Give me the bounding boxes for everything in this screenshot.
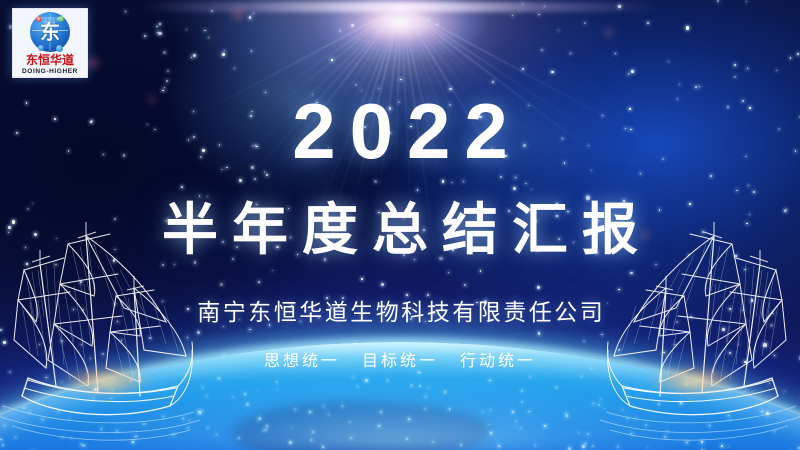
star <box>254 178 256 180</box>
star <box>258 281 260 283</box>
star <box>326 297 328 299</box>
star <box>264 171 266 173</box>
star <box>776 70 777 71</box>
star <box>618 5 621 8</box>
star <box>512 15 513 16</box>
star <box>640 173 642 175</box>
star <box>631 70 634 73</box>
star <box>746 1 747 2</box>
star <box>351 24 354 27</box>
star <box>790 57 792 59</box>
star <box>331 59 333 61</box>
star <box>253 13 254 14</box>
logo-dot-blue-left <box>38 45 44 51</box>
globe-icon: 南宁东恒华道生物科技 东 <box>30 12 70 52</box>
logo-dot-blue-right <box>56 45 63 52</box>
star <box>736 190 737 191</box>
star <box>448 272 449 273</box>
star <box>162 90 164 92</box>
star <box>500 176 502 178</box>
company-name: 南宁东恒华道生物科技有限责任公司 <box>0 300 800 328</box>
star <box>400 79 402 81</box>
star <box>208 37 209 38</box>
lens-flare-dot <box>88 58 98 68</box>
star <box>211 10 213 12</box>
star <box>163 51 166 54</box>
tagline-part: 行动统一 <box>460 351 536 370</box>
star <box>515 177 516 178</box>
star <box>158 32 161 35</box>
star <box>451 182 453 184</box>
star <box>381 283 384 286</box>
star <box>797 53 799 55</box>
star <box>686 26 690 30</box>
year-title: 2022 <box>0 92 800 170</box>
star <box>464 284 466 286</box>
star <box>251 50 253 52</box>
star <box>374 180 377 183</box>
company-logo[interactable]: 南宁东恒华道生物科技 东 东恒华道 DOING-HIGHER <box>12 8 88 78</box>
star <box>748 185 749 186</box>
logo-globe-character: 东 <box>40 22 60 42</box>
star <box>417 189 419 191</box>
star <box>191 57 193 59</box>
star <box>355 84 356 85</box>
star <box>551 71 553 73</box>
star <box>272 270 273 271</box>
star <box>239 179 242 182</box>
star <box>537 286 540 289</box>
star <box>442 180 445 183</box>
star <box>699 86 700 87</box>
star <box>266 174 268 176</box>
star <box>224 50 225 51</box>
lens-flare-dot <box>604 28 613 37</box>
logo-company-name-en: DOING-HIGHER <box>22 68 78 76</box>
star <box>647 22 649 24</box>
star <box>531 189 533 191</box>
star <box>544 6 546 8</box>
star <box>522 68 524 70</box>
star <box>591 170 592 171</box>
star <box>167 70 169 72</box>
star <box>558 30 559 31</box>
star <box>695 86 697 88</box>
star <box>199 195 201 197</box>
star <box>234 68 235 69</box>
star <box>679 84 680 85</box>
star <box>668 61 669 62</box>
star <box>207 196 209 198</box>
star <box>222 53 225 56</box>
star <box>538 14 540 16</box>
star <box>125 11 126 12</box>
star <box>522 3 523 4</box>
star <box>144 35 146 37</box>
star <box>193 54 196 57</box>
star <box>584 22 586 24</box>
star <box>492 81 494 83</box>
tagline-part: 目标统一 <box>362 351 438 370</box>
star <box>570 53 572 55</box>
star <box>427 294 429 296</box>
star <box>747 68 748 69</box>
star <box>204 30 206 32</box>
tagline-part: 思想统一 <box>264 351 340 370</box>
star <box>428 19 429 20</box>
star <box>513 187 516 190</box>
star <box>525 183 527 185</box>
main-headline: 半年度总结汇报 <box>0 202 800 261</box>
star <box>717 0 719 2</box>
star <box>628 73 630 75</box>
star <box>339 30 341 32</box>
star <box>156 26 158 28</box>
star <box>437 24 438 25</box>
star <box>463 181 464 182</box>
star <box>615 53 616 54</box>
logo-company-name-cn: 东恒华道 <box>26 54 74 67</box>
star <box>406 294 408 296</box>
star <box>710 175 712 177</box>
star <box>753 191 755 193</box>
star <box>186 29 187 30</box>
star <box>541 49 543 51</box>
star <box>342 297 344 299</box>
star <box>159 23 161 25</box>
star <box>164 87 165 88</box>
star <box>166 80 168 82</box>
lens-flare-dot <box>232 8 244 20</box>
star <box>734 64 736 66</box>
tagline: 思想统一目标统一行动统一 <box>0 351 800 370</box>
presentation-cover-slide: 南宁东恒华道生物科技 东 东恒华道 DOING-HIGHER 2022 半年度总… <box>0 0 800 450</box>
star <box>734 76 736 78</box>
star <box>249 16 252 19</box>
star <box>361 278 363 280</box>
star <box>480 270 482 272</box>
star <box>442 5 443 6</box>
star <box>181 186 183 188</box>
